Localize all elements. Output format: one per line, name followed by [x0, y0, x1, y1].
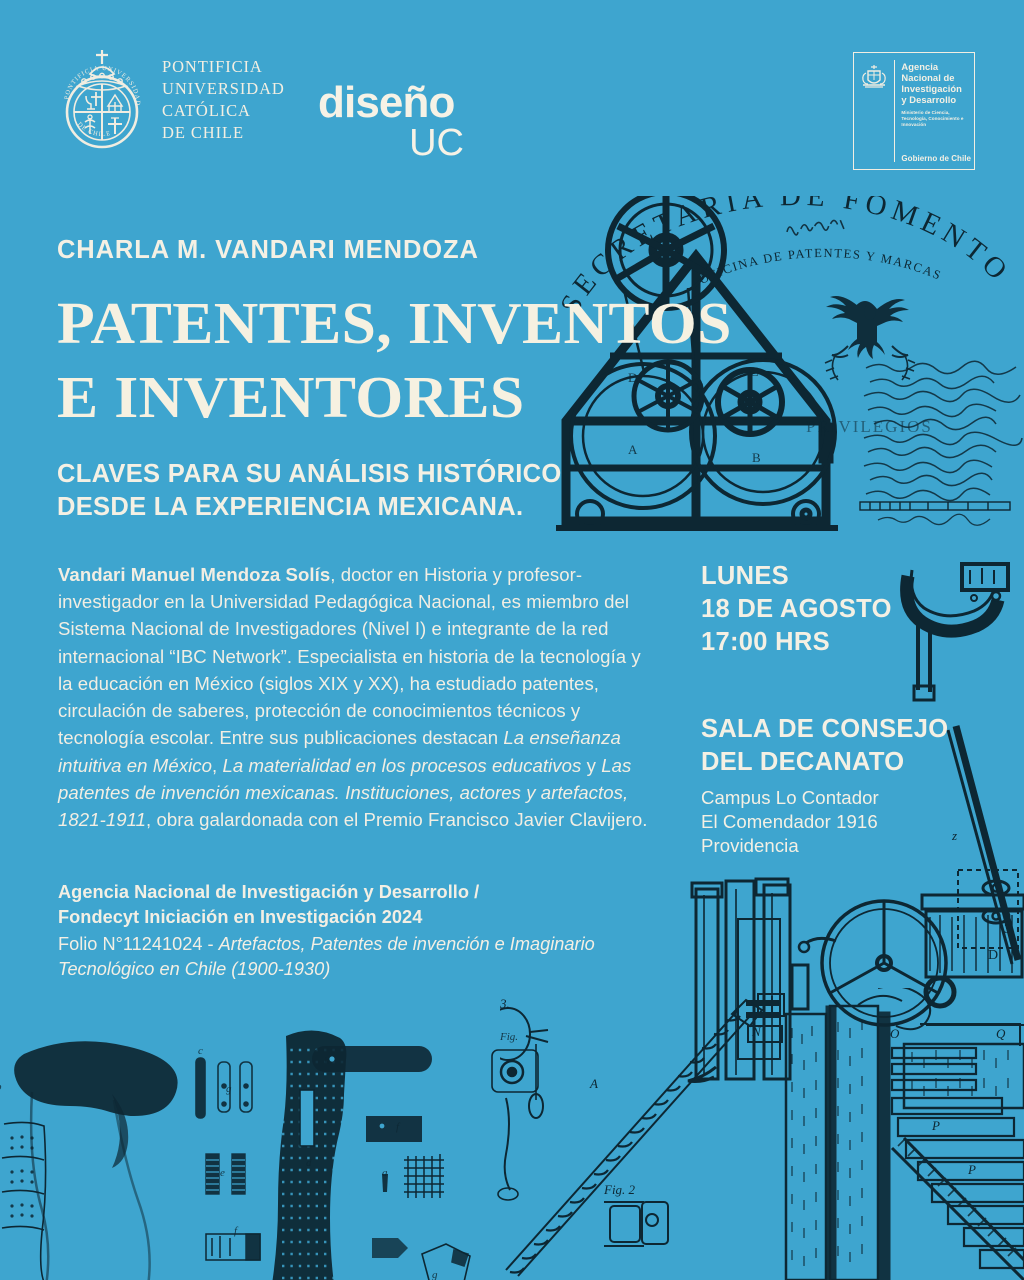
- uc-word-line-2: UNIVERSIDAD: [162, 78, 285, 100]
- svg-text:g: g: [226, 1083, 232, 1095]
- funding-folio: Folio N°11241024 -: [58, 934, 219, 954]
- diseno-uc-suffix: UC: [318, 124, 468, 162]
- title-block: CHARLA M. VANDARI MENDOZA PATENTES, INVE…: [57, 238, 717, 524]
- svg-text:DE CHILE: DE CHILE: [76, 121, 112, 138]
- poster-canvas: SECRETARIA DE FOMENTO OFICINA DE PATENTE…: [0, 0, 1024, 1280]
- svg-text:D: D: [988, 948, 998, 963]
- uc-word-line-1: PONTIFICIA: [162, 56, 285, 78]
- speaker-name: Vandari Manuel Mendoza Solís: [58, 564, 330, 585]
- chile-coat-of-arms: [854, 53, 894, 169]
- svg-text:f: f: [234, 1225, 239, 1237]
- bio-text-part-1: , doctor en Historia y profesor-investig…: [58, 564, 641, 748]
- anid-agency-name: Agencia Nacional de Investigación y Desa…: [901, 61, 969, 105]
- uc-logo-wordmark: PONTIFICIA UNIVERSIDAD CATÓLICA DE CHILE: [162, 56, 285, 144]
- event-date: 18 DE AGOSTO: [701, 593, 1001, 626]
- bio-sep-2: y: [581, 755, 601, 776]
- funding-line-2: Fondecyt Iniciación en Investigación 202…: [58, 905, 668, 930]
- diseno-wordmark: diseño: [318, 82, 468, 124]
- uc-word-line-4: DE CHILE: [162, 122, 285, 144]
- svg-text:OFICINA DE PATENTES Y MARCAS: OFICINA DE PATENTES Y MARCAS: [697, 246, 944, 287]
- talk-kicker: CHARLA M. VANDARI MENDOZA: [57, 238, 717, 264]
- event-day: LUNES: [701, 560, 1001, 593]
- funding-line-1: Agencia Nacional de Investigación y Desa…: [58, 880, 668, 905]
- svg-text:C: C: [750, 364, 759, 379]
- svg-text:B: B: [752, 450, 761, 465]
- anid-ministry-name: Ministerio de Ciencia, Tecnología, Conoc…: [901, 110, 969, 128]
- svg-text:d: d: [306, 1157, 312, 1169]
- funding-project: Folio N°11241024 - Artefactos, Patentes …: [58, 932, 668, 982]
- bio-text-part-2: , obra galardonada con el Premio Francis…: [146, 809, 647, 830]
- svg-text:f: f: [396, 1121, 401, 1133]
- event-address-line-2: El Comendador 1916: [701, 810, 1001, 834]
- svg-text:Fig. 2: Fig. 2: [603, 1182, 636, 1197]
- anid-text-block: Agencia Nacional de Investigación y Desa…: [895, 53, 974, 169]
- event-venue: SALA DE CONSEJO DEL DECANATO: [701, 713, 1001, 777]
- event-address-line-3: Providencia: [701, 834, 1001, 858]
- event-address: Campus Lo Contador El Comendador 1916 Pr…: [701, 786, 1001, 859]
- anid-logo: Agencia Nacional de Investigación y Desa…: [853, 52, 975, 170]
- svg-text:3: 3: [1004, 922, 1011, 937]
- svg-text:a: a: [382, 1167, 388, 1179]
- page-title-line-2: E INVENTORES: [57, 360, 747, 434]
- bio-sep-1: ,: [212, 755, 222, 776]
- svg-text:h: h: [324, 1055, 330, 1067]
- svg-text:e: e: [220, 1167, 225, 1179]
- speaker-bio: Vandari Manuel Mendoza Solís, doctor en …: [58, 561, 658, 833]
- funding-credit: Agencia Nacional de Investigación y Desa…: [58, 880, 668, 982]
- page-subtitle: CLAVES PARA SU ANÁLISIS HISTÓRICO DESDE …: [57, 458, 717, 524]
- event-address-line-1: Campus Lo Contador: [701, 786, 1001, 810]
- event-details: LUNES 18 DE AGOSTO 17:00 HRS SALA DE CON…: [701, 560, 1001, 858]
- bio-work-2: La materialidad en los procesos educativ…: [222, 755, 581, 776]
- svg-text:b: b: [0, 1081, 2, 1093]
- svg-text:g: g: [432, 1269, 438, 1280]
- svg-text:3.: 3.: [500, 996, 510, 1011]
- page-title: PATENTES, INVENTOS E INVENTORES: [57, 286, 747, 435]
- pontificia-universidad-catolica-de-chile-seal: PONTIFICIA UNIVERSIDAD CATOLICA DE CHILE: [56, 48, 148, 152]
- poster-header: PONTIFICIA UNIVERSIDAD CATOLICA DE CHILE…: [0, 0, 1024, 185]
- stair-hoist-engineering-plate: Fig. 2 3. N O Q P P A: [500, 988, 1024, 1280]
- svg-text:A: A: [589, 1076, 598, 1091]
- uc-word-line-3: CATÓLICA: [162, 100, 285, 122]
- svg-text:PRIVILEGIOS: PRIVILEGIOS: [806, 417, 933, 436]
- event-venue-line-1: SALA DE CONSEJO: [701, 713, 1001, 745]
- page-subtitle-line-1: CLAVES PARA SU ANÁLISIS HISTÓRICO: [57, 458, 717, 491]
- page-title-line-1: PATENTES, INVENTOS: [57, 286, 747, 360]
- svg-text:Q: Q: [996, 1026, 1006, 1041]
- svg-text:P: P: [967, 1162, 976, 1177]
- page-subtitle-line-2: DESDE LA EXPERIENCIA MEXICANA.: [57, 491, 717, 524]
- uc-logo-lockup: PONTIFICIA UNIVERSIDAD CATOLICA DE CHILE…: [56, 48, 285, 152]
- svg-text:P: P: [931, 1118, 940, 1133]
- event-venue-line-2: DEL DECANATO: [701, 746, 1001, 778]
- svg-text:c: c: [198, 1045, 203, 1057]
- prosthetic-limb-patent-plate: cge hfa dfg Fig.b: [0, 1006, 554, 1280]
- diseno-uc-logo: diseño UC: [318, 82, 468, 162]
- svg-text:N: N: [751, 1024, 762, 1039]
- svg-text:Fig.: Fig.: [499, 1031, 518, 1043]
- anid-government-label: Gobierno de Chile: [901, 154, 971, 163]
- event-time: 17:00 HRS: [701, 626, 1001, 659]
- event-datetime: LUNES 18 DE AGOSTO 17:00 HRS: [701, 560, 1001, 659]
- svg-text:O: O: [890, 1026, 900, 1041]
